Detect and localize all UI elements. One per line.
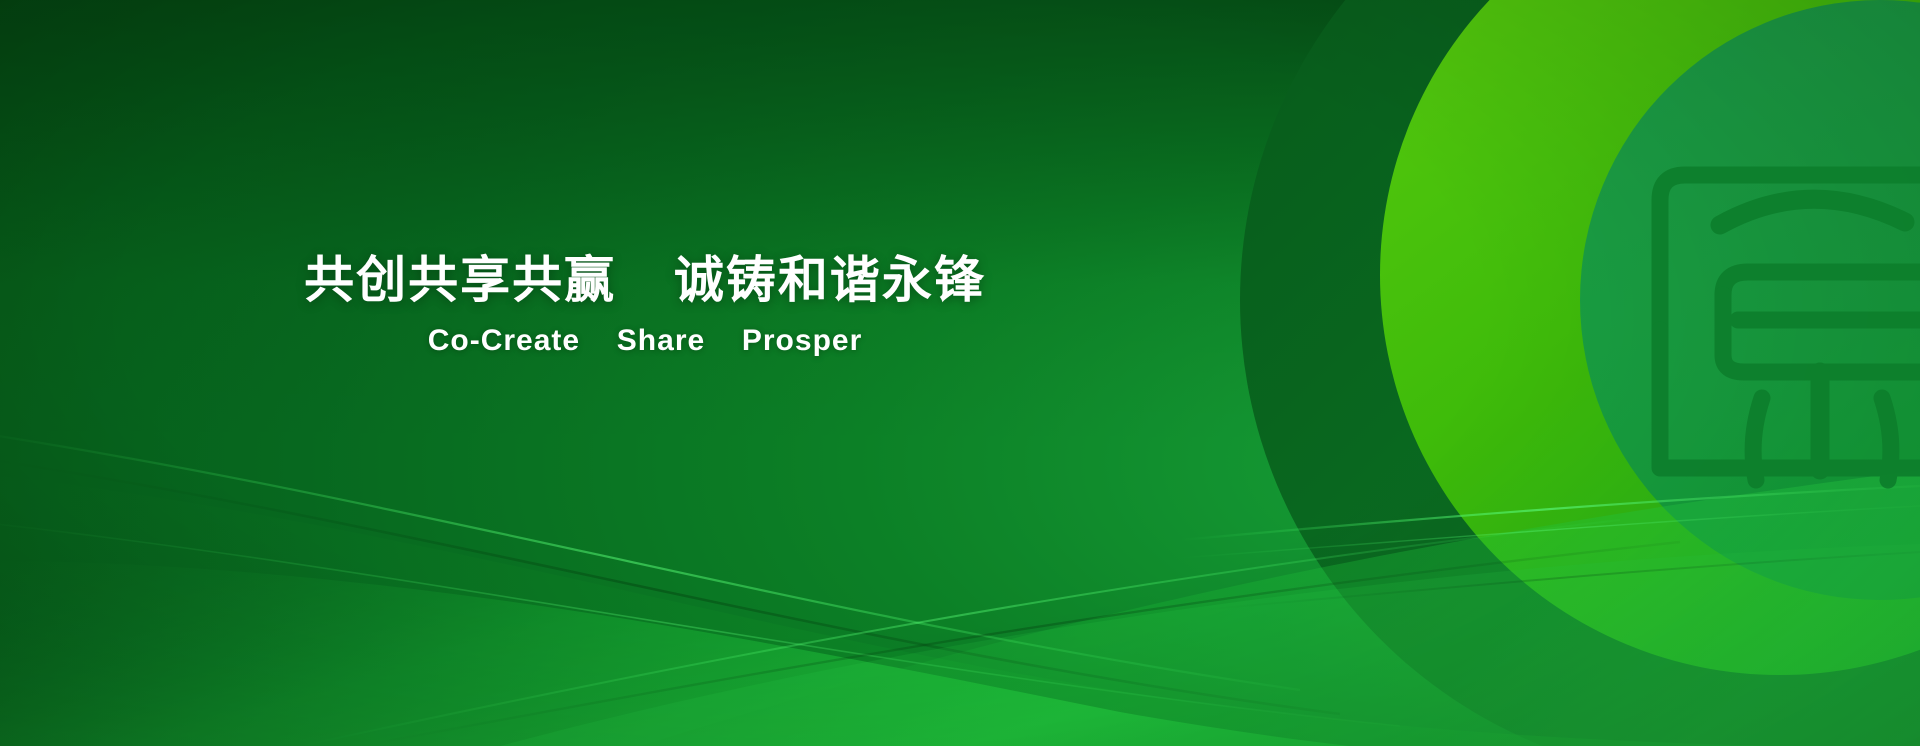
subtitle-word-3: Prosper (742, 324, 862, 357)
banner-subtitle: Co-Create Share Prosper (0, 324, 1290, 358)
watermark-character-glyph (1660, 175, 1920, 480)
banner-text-block: 共创共享共赢 诚铸和谐永锋 Co-Create Share Prosper (0, 252, 1290, 358)
watermark-layer (1020, 0, 1920, 746)
banner-headline: 共创共享共赢 诚铸和谐永锋 (0, 252, 1290, 310)
hero-banner: 共创共享共赢 诚铸和谐永锋 Co-Create Share Prosper (0, 0, 1920, 746)
headline-phrase-2: 诚铸和谐永锋 (674, 252, 986, 308)
subtitle-word-2: Share (617, 324, 705, 357)
subtitle-word-1: Co-Create (428, 324, 580, 357)
headline-phrase-1: 共创共享共赢 (304, 252, 616, 308)
